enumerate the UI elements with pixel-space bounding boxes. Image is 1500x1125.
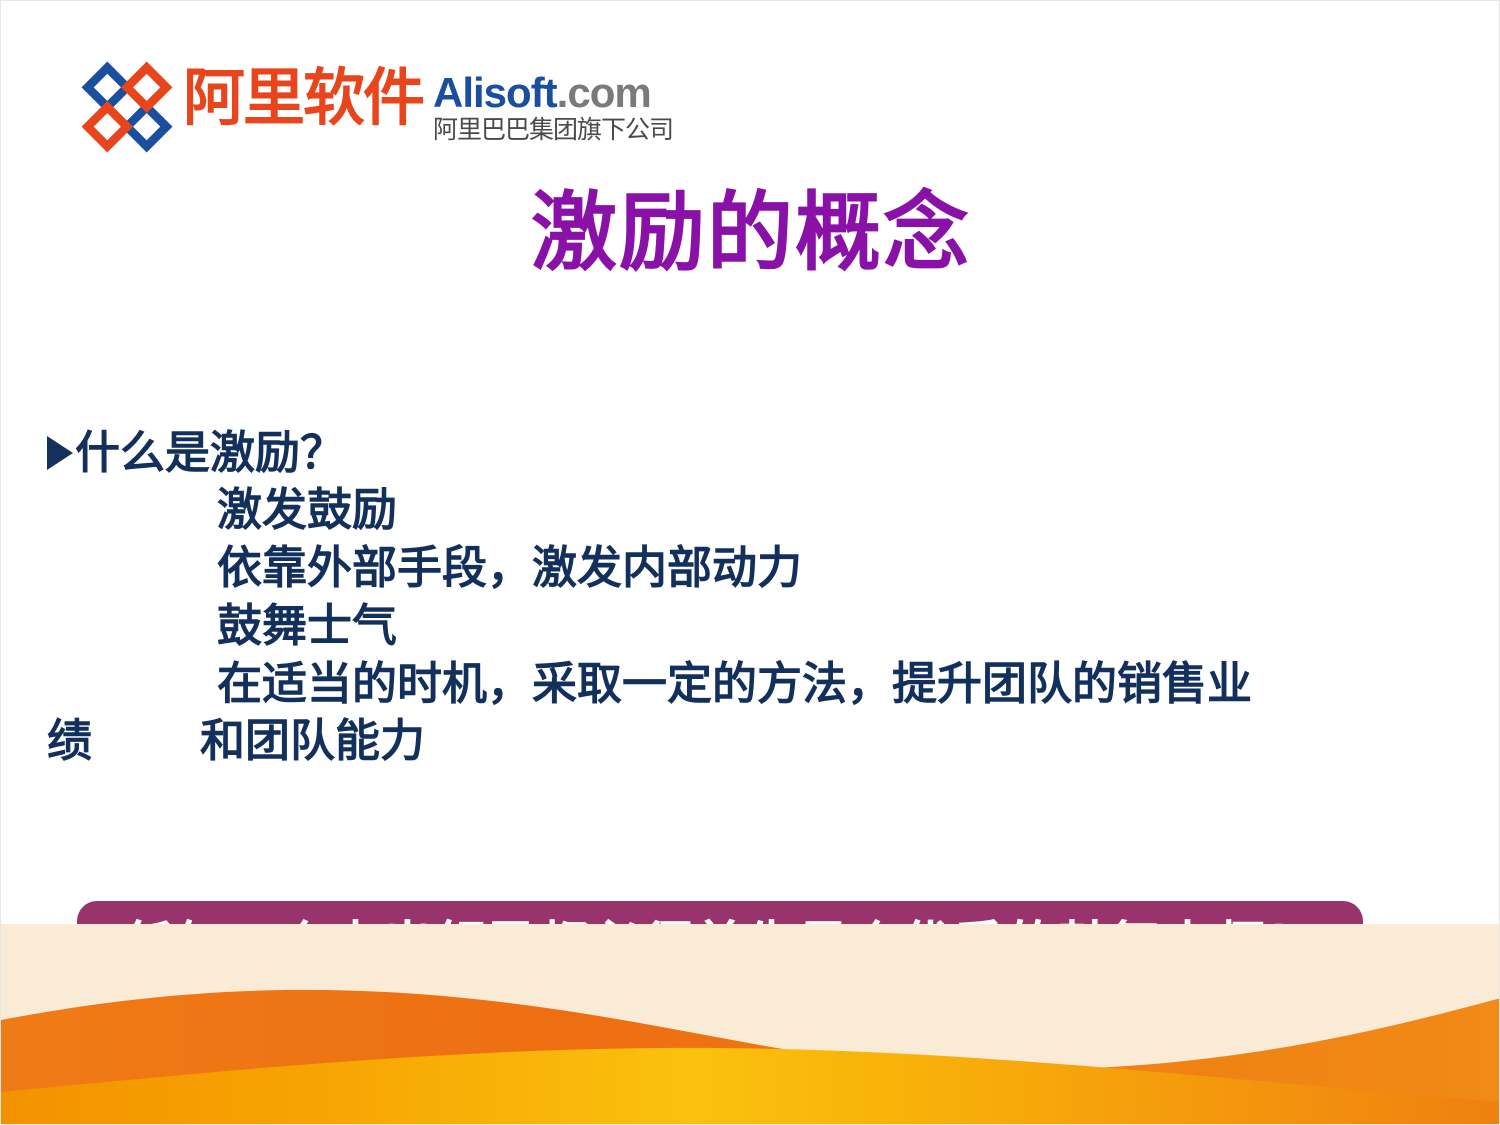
logo-tagline: 阿里巴巴集团旗下公司 bbox=[433, 115, 673, 145]
alisoft-logo: 阿里软件 Alisoft.com 阿里巴巴集团旗下公司 bbox=[79, 59, 673, 159]
bullet-item-level2: 鼓舞士气 bbox=[47, 597, 1447, 655]
bullet-level2-label: 激发鼓励 bbox=[217, 483, 397, 536]
bullet-level1-label: 什么是激励？ bbox=[75, 425, 345, 481]
page-title: 激励的概念 bbox=[1, 183, 1500, 283]
slide-canvas: 阿里软件 Alisoft.com 阿里巴巴集团旗下公司 激励的概念 什么是激励？… bbox=[0, 0, 1500, 1125]
bullet-level2-label-part-a: 在适当的时机，采取一定的方法，提升团队的销售业 bbox=[217, 657, 1252, 710]
logo-brand-en-main: Alisoft bbox=[433, 69, 557, 116]
bullet-level2-label-part-b: 绩 bbox=[47, 713, 92, 769]
wave-layer-orange bbox=[1, 990, 1500, 1124]
logo-brand-cn: 阿里软件 bbox=[183, 65, 423, 131]
alisoft-logo-mark bbox=[79, 59, 175, 155]
bullet-item-level2-wrapped: 在适当的时机，采取一定的方法，提升团队的销售业 bbox=[47, 655, 1447, 713]
quote-banner: 任何一个杰出领导都必须首先是个优秀的鼓舞大师！ bbox=[77, 901, 1363, 993]
body-content: 什么是激励？ 激发鼓励 依靠外部手段，激发内部动力 鼓舞士气 在适当的时机，采取… bbox=[47, 425, 1447, 769]
quote-banner-text: 任何一个杰出领导都必须首先是个优秀的鼓舞大师！ bbox=[122, 919, 1318, 975]
bullet-item-level2: 激发鼓励 bbox=[47, 481, 1447, 539]
bullet-level2-label: 鼓舞士气 bbox=[217, 599, 397, 652]
bullet-level2-label: 依靠外部手段，激发内部动力 bbox=[217, 541, 802, 594]
logo-brand-en: Alisoft.com bbox=[433, 71, 673, 115]
wave-layer-yellow bbox=[1, 1048, 1500, 1124]
logo-latin-group: Alisoft.com 阿里巴巴集团旗下公司 bbox=[433, 65, 673, 145]
logo-brand-en-tld: .com bbox=[557, 69, 651, 116]
bullet-item-level2: 依靠外部手段，激发内部动力 bbox=[47, 539, 1447, 597]
bullet-item-level1: 什么是激励？ bbox=[47, 425, 1447, 481]
bullet-level2-label-part-c: 和团队能力 bbox=[200, 713, 425, 769]
bullet-item-level2-wrap-continuation: 绩 和团队能力 bbox=[47, 713, 1447, 769]
triangle-right-icon bbox=[47, 436, 73, 470]
logo-wordmarks: 阿里软件 Alisoft.com 阿里巴巴集团旗下公司 bbox=[183, 59, 673, 145]
